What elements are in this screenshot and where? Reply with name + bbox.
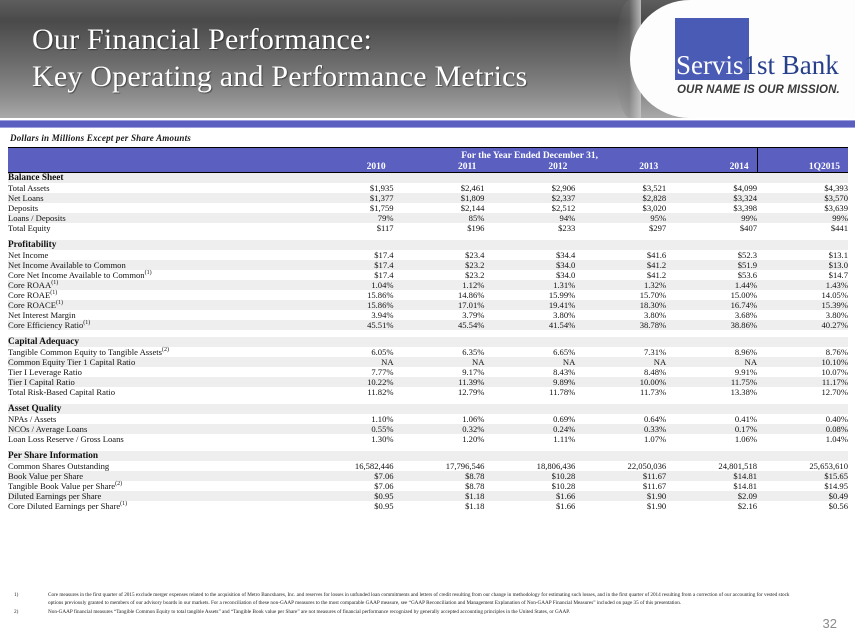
table-cell-2013: 10.00% xyxy=(575,377,666,387)
table-cell-2014: $14.81 xyxy=(666,471,757,481)
table-cell-2013: $41.2 xyxy=(575,260,666,270)
table-cell-2010: 1.10% xyxy=(303,414,394,424)
table-cell-2013: $2,828 xyxy=(575,193,666,203)
table-cell-2012: 8.43% xyxy=(484,367,575,377)
table-cell-2013: 8.48% xyxy=(575,367,666,377)
table-cell-2014: $53.6 xyxy=(666,270,757,280)
section-title-row: Balance Sheet xyxy=(8,173,848,184)
table-row: Tangible Common Equity to Tangible Asset… xyxy=(8,347,848,357)
table-cell-2012: $34.0 xyxy=(484,260,575,270)
section-title: Per Share Information xyxy=(8,451,848,461)
table-header-group-row: For the Year Ended December 31, xyxy=(8,148,848,163)
row-label: Total Risk-Based Capital Ratio xyxy=(8,387,303,397)
row-label: NPAs / Assets xyxy=(8,414,303,424)
table-cell-1q2015: $14.95 xyxy=(757,481,848,491)
table-cell-2012: 1.11% xyxy=(484,434,575,444)
table-cell-1q2015: $14.7 xyxy=(757,270,848,280)
slide-header-banner: Our Financial Performance: Key Operating… xyxy=(0,0,855,118)
table-cell-1q2015: 14.05% xyxy=(757,290,848,300)
table-cell-2010: 11.82% xyxy=(303,387,394,397)
table-row: Net Income Available to Common$17.4$23.2… xyxy=(8,260,848,270)
section-title: Profitability xyxy=(8,240,848,250)
table-cell-2013: $1.90 xyxy=(575,491,666,501)
table-cell-2012: $233 xyxy=(484,223,575,233)
row-label: Core Diluted Earnings per Share(1) xyxy=(8,501,303,511)
table-cell-1q2015: 1.43% xyxy=(757,280,848,290)
logo-tagline: OUR NAME IS OUR MISSION. xyxy=(677,84,855,96)
servis-first-bank-logo: Servis1st Bank OUR NAME IS OUR MISSION. xyxy=(647,18,847,104)
table-cell-1q2015: 1.04% xyxy=(757,434,848,444)
table-header: For the Year Ended December 31, 2010 201… xyxy=(8,148,848,173)
table-cell-2011: 1.12% xyxy=(394,280,485,290)
table-cell-2011: $8.78 xyxy=(394,471,485,481)
footnote-reference: (1) xyxy=(145,270,152,276)
table-cell-2012: 11.78% xyxy=(484,387,575,397)
row-label: Loan Loss Reserve / Gross Loans xyxy=(8,434,303,444)
logo-word-rest: 1st Bank xyxy=(744,50,839,80)
table-cell-2014: $51.9 xyxy=(666,260,757,270)
row-label: Core Net Income Available to Common(1) xyxy=(8,270,303,280)
row-label: Total Assets xyxy=(8,183,303,193)
row-label: Core Efficiency Ratio(1) xyxy=(8,320,303,330)
table-cell-2010: $1,935 xyxy=(303,183,394,193)
table-cell-2012: $2,906 xyxy=(484,183,575,193)
table-cell-2010: $17.4 xyxy=(303,250,394,260)
table-cell-2012: $2,512 xyxy=(484,203,575,213)
footnote-reference: (1) xyxy=(83,320,90,326)
section-spacer xyxy=(8,330,848,337)
table-cell-1q2015: $441 xyxy=(757,223,848,233)
row-label: Common Equity Tier 1 Capital Ratio xyxy=(8,357,303,367)
table-cell-2011: 6.35% xyxy=(394,347,485,357)
table-cell-1q2015: 0.08% xyxy=(757,424,848,434)
table-cell-2014: $2.16 xyxy=(666,501,757,511)
section-title-row: Asset Quality xyxy=(8,404,848,414)
table-row: Loan Loss Reserve / Gross Loans1.30%1.20… xyxy=(8,434,848,444)
table-cell-2013: 1.07% xyxy=(575,434,666,444)
footnote-2: 2)Non-GAAP financial measures “Tangible … xyxy=(14,609,794,617)
footnote-reference: (1) xyxy=(50,290,57,296)
table-cell-2014: 13.38% xyxy=(666,387,757,397)
table-row: NPAs / Assets1.10%1.06%0.69%0.64%0.41%0.… xyxy=(8,414,848,424)
table-cell-2011: 1.20% xyxy=(394,434,485,444)
table-cell-2013: 11.73% xyxy=(575,387,666,397)
footnotes-block: 1)Core measures in the first quarter of … xyxy=(14,592,794,619)
table-cell-2013: 0.33% xyxy=(575,424,666,434)
section-spacer xyxy=(8,397,848,404)
row-label: Total Equity xyxy=(8,223,303,233)
table-cell-2013: 3.80% xyxy=(575,310,666,320)
table-cell-1q2015: 10.07% xyxy=(757,367,848,377)
table-cell-2014: 1.44% xyxy=(666,280,757,290)
table-cell-2010: $0.95 xyxy=(303,501,394,511)
table-cell-2012: 18,806,436 xyxy=(484,461,575,471)
table-cell-2014: $3,398 xyxy=(666,203,757,213)
row-label: Core ROAA(1) xyxy=(8,280,303,290)
table-cell-2010: 6.05% xyxy=(303,347,394,357)
row-label: Deposits xyxy=(8,203,303,213)
table-cell-2012: 6.65% xyxy=(484,347,575,357)
column-header-2013: 2013 xyxy=(575,162,666,173)
table-cell-2012: $1.66 xyxy=(484,501,575,511)
table-cell-2010: 10.22% xyxy=(303,377,394,387)
table-cell-2010: NA xyxy=(303,357,394,367)
table-cell-2014: NA xyxy=(666,357,757,367)
table-row: Total Risk-Based Capital Ratio11.82%12.7… xyxy=(8,387,848,397)
table-row: NCOs / Average Loans0.55%0.32%0.24%0.33%… xyxy=(8,424,848,434)
table-cell-2011: 11.39% xyxy=(394,377,485,387)
footnote-marker: 2) xyxy=(14,609,40,617)
table-cell-2010: 15.86% xyxy=(303,290,394,300)
table-cell-2014: $52.3 xyxy=(666,250,757,260)
table-cell-1q2015: 15.39% xyxy=(757,300,848,310)
table-cell-2011: $23.2 xyxy=(394,260,485,270)
footnote-marker: 1) xyxy=(14,592,40,600)
table-cell-2011: NA xyxy=(394,357,485,367)
section-title: Asset Quality xyxy=(8,404,848,414)
table-row: Total Equity$117$196$233$297$407$441 xyxy=(8,223,848,233)
table-row: Deposits$1,759$2,144$2,512$3,020$3,398$3… xyxy=(8,203,848,213)
table-row: Total Assets$1,935$2,461$2,906$3,521$4,0… xyxy=(8,183,848,193)
table-cell-2011: 3.79% xyxy=(394,310,485,320)
column-header-2012: 2012 xyxy=(484,162,575,173)
table-cell-2011: 1.06% xyxy=(394,414,485,424)
column-header-2014: 2014 xyxy=(666,162,757,173)
row-label: Net Interest Margin xyxy=(8,310,303,320)
footnote-reference: (1) xyxy=(51,280,58,286)
table-header-columns-row: 2010 2011 2012 2013 2014 1Q2015 xyxy=(8,162,848,173)
table-cell-2012: 15.99% xyxy=(484,290,575,300)
table-cell-2010: 1.04% xyxy=(303,280,394,290)
row-label: Common Shares Outstanding xyxy=(8,461,303,471)
table-cell-2013: 1.32% xyxy=(575,280,666,290)
row-label: Tier I Capital Ratio xyxy=(8,377,303,387)
table-cell-2012: 41.54% xyxy=(484,320,575,330)
section-title: Capital Adequacy xyxy=(8,337,848,347)
row-label: Diluted Earnings per Share xyxy=(8,491,303,501)
table-row: Diluted Earnings per Share$0.95$1.18$1.6… xyxy=(8,491,848,501)
table-cell-2011: $8.78 xyxy=(394,481,485,491)
row-label: NCOs / Average Loans xyxy=(8,424,303,434)
table-cell-2014: $14.81 xyxy=(666,481,757,491)
table-cell-2011: 17,796,546 xyxy=(394,461,485,471)
table-cell-2011: $2,461 xyxy=(394,183,485,193)
table-cell-2012: 9.89% xyxy=(484,377,575,387)
logo-wordmark: Servis1st Bank xyxy=(676,50,848,80)
table-row: Net Interest Margin3.94%3.79%3.80%3.80%3… xyxy=(8,310,848,320)
section-spacer-cell xyxy=(8,397,848,404)
table-cell-1q2015: $4,393 xyxy=(757,183,848,193)
table-cell-2012: 19.41% xyxy=(484,300,575,310)
table-cell-2010: $1,377 xyxy=(303,193,394,203)
header-quarter-cell xyxy=(757,148,848,163)
column-header-2010: 2010 xyxy=(303,162,394,173)
table-cell-2010: $1,759 xyxy=(303,203,394,213)
table-cell-2014: $4,099 xyxy=(666,183,757,193)
table-cell-2013: $3,521 xyxy=(575,183,666,193)
table-cell-2011: $23.2 xyxy=(394,270,485,280)
table-cell-1q2015: 99% xyxy=(757,213,848,223)
table-cell-2010: $117 xyxy=(303,223,394,233)
table-cell-2010: $17.4 xyxy=(303,260,394,270)
table-cell-2012: $10.28 xyxy=(484,481,575,491)
header-accent-rule xyxy=(0,120,855,128)
table-row: Core Diluted Earnings per Share(1)$0.95$… xyxy=(8,501,848,511)
table-row: Core ROACE(1)15.86%17.01%19.41%18.30%16.… xyxy=(8,300,848,310)
page-title: Our Financial Performance: Key Operating… xyxy=(32,21,528,95)
table-cell-2012: $2,337 xyxy=(484,193,575,203)
table-cell-2012: $34.4 xyxy=(484,250,575,260)
table-cell-2013: $3,020 xyxy=(575,203,666,213)
table-cell-2010: 7.77% xyxy=(303,367,394,377)
table-row: Book Value per Share$7.06$8.78$10.28$11.… xyxy=(8,471,848,481)
table-cell-1q2015: $15.65 xyxy=(757,471,848,481)
section-title-row: Capital Adequacy xyxy=(8,337,848,347)
table-cell-2011: 9.17% xyxy=(394,367,485,377)
table-cell-2014: $407 xyxy=(666,223,757,233)
row-label: Tangible Book Value per Share(2) xyxy=(8,481,303,491)
section-spacer-cell xyxy=(8,233,848,240)
table-cell-2013: $11.67 xyxy=(575,471,666,481)
units-caption: Dollars in Millions Except per Share Amo… xyxy=(10,133,191,143)
table-cell-2011: 12.79% xyxy=(394,387,485,397)
section-title-row: Profitability xyxy=(8,240,848,250)
column-header-1q2015: 1Q2015 xyxy=(757,162,848,173)
table-row: Common Equity Tier 1 Capital RatioNANANA… xyxy=(8,357,848,367)
section-spacer xyxy=(8,444,848,451)
table-cell-2012: 0.69% xyxy=(484,414,575,424)
table-body: Balance SheetTotal Assets$1,935$2,461$2,… xyxy=(8,173,848,512)
column-header-2011: 2011 xyxy=(394,162,485,173)
table-cell-2013: 18.30% xyxy=(575,300,666,310)
table-row: Tier I Leverage Ratio7.77%9.17%8.43%8.48… xyxy=(8,367,848,377)
footnote-reference: (2) xyxy=(162,347,169,353)
footnote-text: Core measures in the first quarter of 20… xyxy=(48,592,790,606)
table-row: Core ROAE(1)15.86%14.86%15.99%15.70%15.0… xyxy=(8,290,848,300)
table-cell-2011: $1.18 xyxy=(394,501,485,511)
table-cell-1q2015: $3,570 xyxy=(757,193,848,203)
row-label: Net Income xyxy=(8,250,303,260)
table-row: Loans / Deposits79%85%94%95%99%99% xyxy=(8,213,848,223)
table-cell-2010: $0.95 xyxy=(303,491,394,501)
header-corner-cell xyxy=(8,148,303,163)
table-cell-2013: 15.70% xyxy=(575,290,666,300)
table-row: Common Shares Outstanding16,582,44617,79… xyxy=(8,461,848,471)
table-cell-2013: 7.31% xyxy=(575,347,666,357)
table-cell-1q2015: 8.76% xyxy=(757,347,848,357)
table-cell-2013: $41.2 xyxy=(575,270,666,280)
logo-word-servis: Servis xyxy=(676,50,744,80)
table-cell-2013: 95% xyxy=(575,213,666,223)
table-cell-2014: 24,801,518 xyxy=(666,461,757,471)
table-cell-2010: $17.4 xyxy=(303,270,394,280)
table-cell-1q2015: $3,639 xyxy=(757,203,848,213)
table-cell-2012: $10.28 xyxy=(484,471,575,481)
table-cell-2014: 3.68% xyxy=(666,310,757,320)
table-cell-2011: 14.86% xyxy=(394,290,485,300)
table-cell-2010: $7.06 xyxy=(303,481,394,491)
row-label: Tier I Leverage Ratio xyxy=(8,367,303,377)
table-cell-2014: 0.17% xyxy=(666,424,757,434)
table-cell-2010: 79% xyxy=(303,213,394,223)
row-label: Book Value per Share xyxy=(8,471,303,481)
table-cell-2012: 1.31% xyxy=(484,280,575,290)
footnote-reference: (1) xyxy=(120,501,127,507)
table-cell-1q2015: $0.56 xyxy=(757,501,848,511)
footnote-1: 1)Core measures in the first quarter of … xyxy=(14,592,794,607)
table-row: Core Efficiency Ratio(1)45.51%45.54%41.5… xyxy=(8,320,848,330)
row-label: Loans / Deposits xyxy=(8,213,303,223)
table-cell-2014: 38.86% xyxy=(666,320,757,330)
table-cell-2011: 17.01% xyxy=(394,300,485,310)
table-cell-2010: 0.55% xyxy=(303,424,394,434)
table-cell-2010: 16,582,446 xyxy=(303,461,394,471)
row-label: Net Loans xyxy=(8,193,303,203)
page-number: 32 xyxy=(823,616,837,631)
table-cell-2013: $1.90 xyxy=(575,501,666,511)
table-cell-2014: 99% xyxy=(666,213,757,223)
column-group-header: For the Year Ended December 31, xyxy=(303,148,757,163)
table-cell-2012: 94% xyxy=(484,213,575,223)
table-cell-2010: 45.51% xyxy=(303,320,394,330)
table-cell-2014: 0.41% xyxy=(666,414,757,424)
section-spacer-cell xyxy=(8,330,848,337)
table-cell-2011: $1.18 xyxy=(394,491,485,501)
table-cell-1q2015: 3.80% xyxy=(757,310,848,320)
table-cell-2012: 3.80% xyxy=(484,310,575,320)
table-cell-2011: $196 xyxy=(394,223,485,233)
table-cell-2010: 3.94% xyxy=(303,310,394,320)
key-metrics-table: For the Year Ended December 31, 2010 201… xyxy=(8,147,848,511)
table-cell-2011: 0.32% xyxy=(394,424,485,434)
table-cell-1q2015: 12.70% xyxy=(757,387,848,397)
table-cell-1q2015: $0.49 xyxy=(757,491,848,501)
table-cell-2014: 1.06% xyxy=(666,434,757,444)
table-cell-1q2015: $13.0 xyxy=(757,260,848,270)
table-row: Tangible Book Value per Share(2)$7.06$8.… xyxy=(8,481,848,491)
table-cell-1q2015: 25,653,610 xyxy=(757,461,848,471)
table-cell-2010: 15.86% xyxy=(303,300,394,310)
row-label: Core ROACE(1) xyxy=(8,300,303,310)
table-row: Net Income$17.4$23.4$34.4$41.6$52.3$13.1 xyxy=(8,250,848,260)
table-cell-2013: 38.78% xyxy=(575,320,666,330)
table-row: Core ROAA(1)1.04%1.12%1.31%1.32%1.44%1.4… xyxy=(8,280,848,290)
footnote-text: Non-GAAP financial measures “Tangible Co… xyxy=(48,609,570,615)
table-cell-2011: $23.4 xyxy=(394,250,485,260)
table-row: Net Loans$1,377$1,809$2,337$2,828$3,324$… xyxy=(8,193,848,203)
table-cell-2011: $2,144 xyxy=(394,203,485,213)
table-cell-1q2015: $13.1 xyxy=(757,250,848,260)
table-cell-1q2015: 10.10% xyxy=(757,357,848,367)
table-cell-2011: 45.54% xyxy=(394,320,485,330)
table-cell-2013: NA xyxy=(575,357,666,367)
section-spacer-cell xyxy=(8,444,848,451)
table-row: Tier I Capital Ratio10.22%11.39%9.89%10.… xyxy=(8,377,848,387)
table-cell-2014: 16.74% xyxy=(666,300,757,310)
row-label: Net Income Available to Common xyxy=(8,260,303,270)
row-label: Tangible Common Equity to Tangible Asset… xyxy=(8,347,303,357)
table-cell-1q2015: 0.40% xyxy=(757,414,848,424)
table-cell-1q2015: 11.17% xyxy=(757,377,848,387)
header-label-column xyxy=(8,162,303,173)
table-cell-2012: 0.24% xyxy=(484,424,575,434)
table-cell-2014: $3,324 xyxy=(666,193,757,203)
row-label: Core ROAE(1) xyxy=(8,290,303,300)
table-cell-2014: 11.75% xyxy=(666,377,757,387)
footnote-reference: (1) xyxy=(56,300,63,306)
table-cell-2010: 1.30% xyxy=(303,434,394,444)
table-cell-2014: 9.91% xyxy=(666,367,757,377)
table-cell-2010: $7.06 xyxy=(303,471,394,481)
table-cell-2012: $34.0 xyxy=(484,270,575,280)
table-cell-2012: $1.66 xyxy=(484,491,575,501)
table-cell-2013: $297 xyxy=(575,223,666,233)
section-title-row: Per Share Information xyxy=(8,451,848,461)
table-cell-2014: 15.00% xyxy=(666,290,757,300)
table-cell-1q2015: 40.27% xyxy=(757,320,848,330)
table-cell-2011: $1,809 xyxy=(394,193,485,203)
footnote-reference: (2) xyxy=(115,481,122,487)
table-cell-2014: $2.09 xyxy=(666,491,757,501)
table-cell-2012: NA xyxy=(484,357,575,367)
section-spacer xyxy=(8,233,848,240)
table-cell-2013: $11.67 xyxy=(575,481,666,491)
section-title: Balance Sheet xyxy=(8,173,848,184)
table-cell-2011: 85% xyxy=(394,213,485,223)
table-cell-2013: $41.6 xyxy=(575,250,666,260)
table-cell-2013: 22,050,036 xyxy=(575,461,666,471)
table-cell-2013: 0.64% xyxy=(575,414,666,424)
table-cell-2014: 8.96% xyxy=(666,347,757,357)
table-row: Core Net Income Available to Common(1)$1… xyxy=(8,270,848,280)
